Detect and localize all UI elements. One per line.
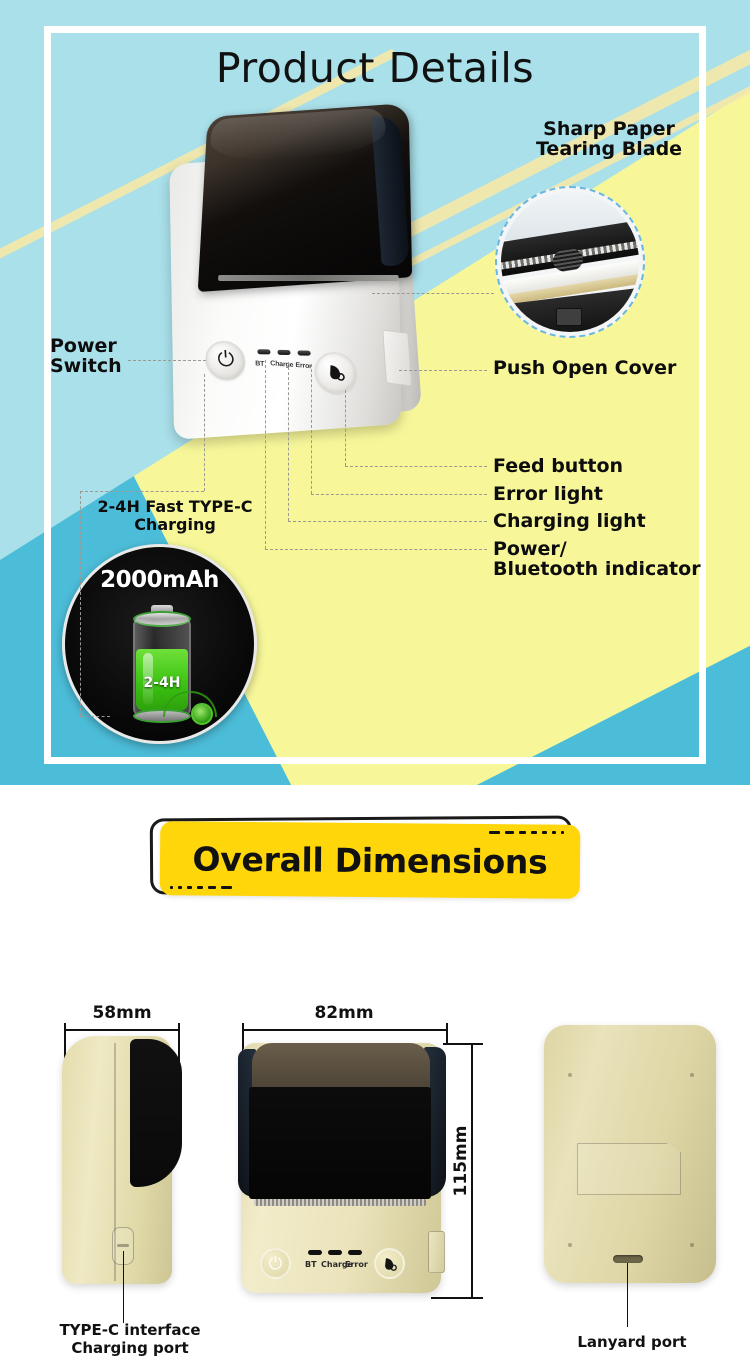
width-dimension-label-82mm: 82mm <box>240 1003 448 1023</box>
printer-front-paper-slot <box>254 1199 426 1206</box>
power-icon: ⏻ <box>214 349 238 371</box>
label-sharp-blade-line1: Sharp Paper <box>536 119 682 139</box>
printer-front-black-panel <box>249 1087 431 1199</box>
banner-dash-decoration-bottom-left <box>170 886 232 889</box>
label-power-switch-line1: Power <box>50 336 122 356</box>
label-feed-button: Feed button <box>493 456 623 476</box>
label-power-switch: Power Switch <box>50 336 122 376</box>
printer-paper-slot <box>218 275 398 281</box>
leader-line-error-horizontal <box>311 494 487 495</box>
leader-line-charging-vertical <box>288 362 289 521</box>
battery-illustration: 2000mAh 2-4H <box>62 544 257 744</box>
printer-front-feed-button[interactable] <box>374 1248 405 1279</box>
lanyard-port <box>613 1255 643 1263</box>
label-sharp-blade-line2: Tearing Blade <box>536 139 682 159</box>
printer-side-black-lid <box>130 1039 182 1187</box>
leader-line-charging-horizontal <box>288 521 487 522</box>
typec-port-slot <box>117 1244 129 1247</box>
label-sharp-paper-tearing-blade: Sharp Paper Tearing Blade <box>536 119 682 159</box>
error-led-label: Error <box>295 362 311 370</box>
label-power-bt-line1: Power/ <box>493 539 701 559</box>
bt-led-label: BT <box>305 1260 317 1269</box>
charging-plug-icon <box>183 695 219 725</box>
error-led-label: Error <box>345 1260 368 1269</box>
screw-hole <box>690 1073 694 1077</box>
leader-line-error-vertical <box>311 364 312 494</box>
label-typec-port-line1: TYPE-C interface <box>35 1321 225 1339</box>
blade-bottom-notch <box>556 308 582 326</box>
label-lanyard-port: Lanyard port <box>532 1333 732 1351</box>
battery-charge-time-label: 2-4H <box>133 675 191 691</box>
label-fast-charging-line2: Charging <box>80 516 270 534</box>
height-dimension-115mm: 115mm <box>445 1041 495 1301</box>
dimension-line-82mm <box>242 1029 448 1031</box>
leader-line-feed-horizontal <box>345 466 487 467</box>
leader-line-typec-port <box>123 1251 124 1323</box>
label-error-light: Error light <box>493 484 603 504</box>
dimension-tick-bottom <box>431 1297 483 1299</box>
width-dimension-label-58mm: 58mm <box>62 1003 182 1023</box>
screw-hole <box>568 1243 572 1247</box>
label-push-open-cover: Push Open Cover <box>493 358 676 378</box>
bt-led <box>308 1250 322 1255</box>
label-power-bt-line2: Bluetooth indicator <box>493 559 701 579</box>
screw-hole <box>690 1243 694 1247</box>
screw-hole <box>568 1073 572 1077</box>
leader-line-sharp-blade <box>372 293 494 294</box>
label-typec-interface-charging-port: TYPE-C interface Charging port <box>35 1321 225 1357</box>
leader-line-lanyard-port <box>627 1263 628 1327</box>
error-led <box>297 350 310 355</box>
label-power-switch-line2: Switch <box>50 356 122 376</box>
side-view: 58mm TYPE-C interface Charging port <box>40 1003 230 1303</box>
back-view: Lanyard port <box>520 1003 750 1303</box>
leader-line-power-switch <box>128 360 206 361</box>
sharp-blade-inset-photo <box>495 186 645 338</box>
feed-icon <box>324 361 348 383</box>
printer-back-label-recess <box>577 1143 681 1195</box>
product-details-section: Product Details ⏻ BT Charge Error <box>0 0 750 785</box>
plug-head <box>191 703 213 725</box>
dimensions-banner: Overall Dimensions <box>150 813 580 903</box>
leader-line-typec-bottom <box>80 716 110 717</box>
leader-line-push-open-cover <box>399 370 487 371</box>
charge-led <box>277 350 290 355</box>
bt-led <box>257 349 270 354</box>
leader-line-feed-vertical <box>345 390 346 466</box>
leader-line-bluetooth-horizontal <box>265 549 487 550</box>
battery-capacity-label: 2000mAh <box>65 567 254 593</box>
dimension-line-115mm <box>471 1043 473 1299</box>
printer-front-lid-top <box>252 1043 430 1091</box>
leader-line-typec-horizontal <box>80 491 204 492</box>
banner-dash-decoration-top-right <box>489 831 564 834</box>
leader-line-typec-vertical <box>204 374 205 491</box>
printer-main-photo: ⏻ BT Charge Error <box>151 99 438 447</box>
dimension-line-58mm <box>64 1029 180 1031</box>
label-fast-charging-line1: 2-4H Fast TYPE-C <box>80 498 270 516</box>
printer-front-push-cover[interactable] <box>428 1231 445 1273</box>
printer-front-power-button[interactable]: ⏻ <box>260 1248 291 1279</box>
label-power-bluetooth-indicator: Power/ Bluetooth indicator <box>493 539 701 579</box>
error-led <box>348 1250 362 1255</box>
blade-photo-content <box>501 192 639 332</box>
label-fast-typec-charging: 2-4H Fast TYPE-C Charging <box>80 498 270 535</box>
bt-led-label: BT <box>255 360 264 368</box>
page-title: Product Details <box>0 44 750 92</box>
charge-led <box>328 1250 342 1255</box>
dimension-tick-top <box>443 1043 483 1045</box>
front-view: 82mm ⏻ BT Charge Error 115mm <box>232 1003 482 1303</box>
power-icon: ⏻ <box>269 1254 282 1274</box>
height-dimension-label-115mm: 115mm <box>451 1121 471 1201</box>
label-charging-light: Charging light <box>493 511 646 531</box>
label-typec-port-line2: Charging port <box>35 1339 225 1357</box>
printer-push-open-cover[interactable] <box>382 329 412 386</box>
overall-dimensions-section: Overall Dimensions 58mm TYPE-C interface… <box>0 785 750 1365</box>
